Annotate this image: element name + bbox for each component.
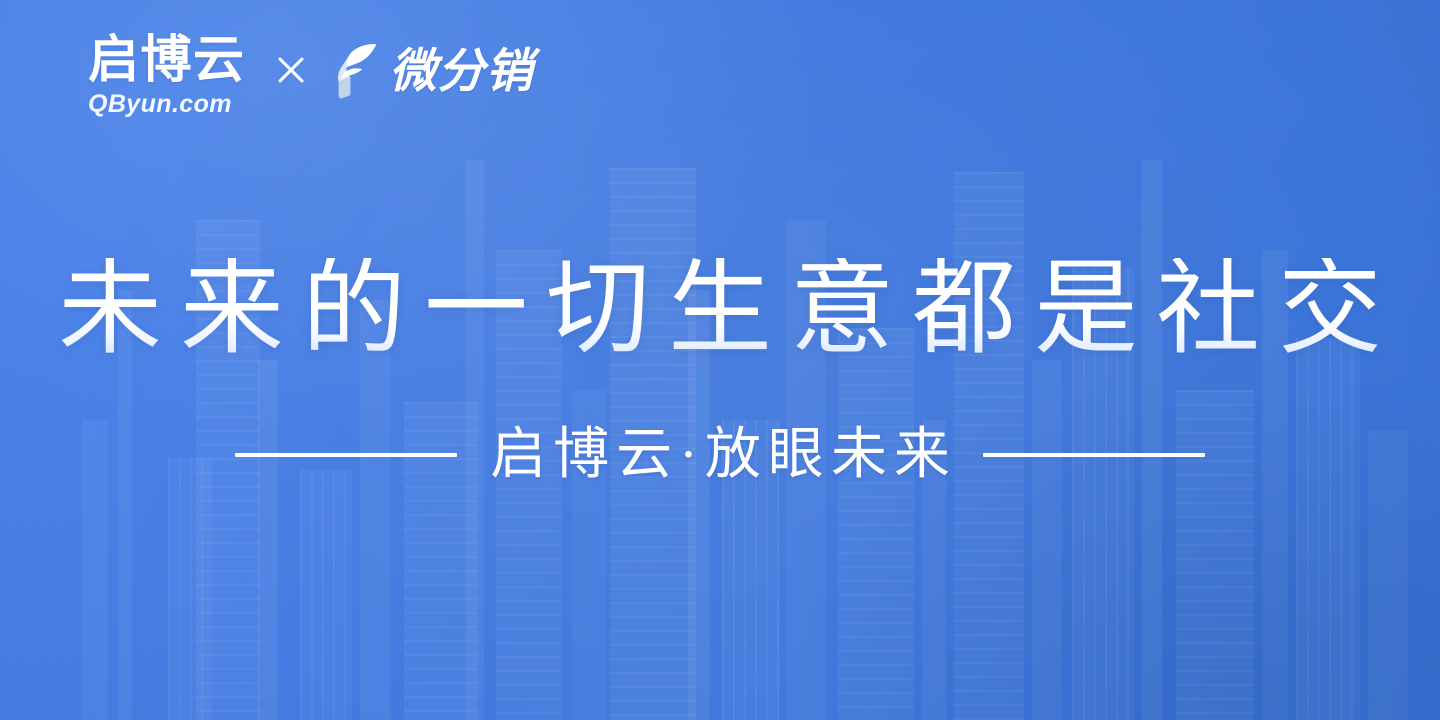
logo-lockup: 启博云 QByun.com 微分销: [88, 34, 534, 117]
hero-subtitle-row: 启博云·放眼未来: [0, 424, 1440, 487]
background-tower-windows: [838, 328, 914, 720]
promo-banner: 启博云 QByun.com 微分销 未来的一切生意都是社交 启博云·放眼未来: [0, 0, 1440, 720]
subtitle-rule-right: [983, 453, 1205, 457]
cross-multiply-icon: [276, 55, 306, 85]
subtitle-text: 启博云·放眼未来: [483, 424, 957, 487]
background-tower: [1296, 338, 1360, 720]
weifenxiao-leaf-icon: [332, 43, 378, 99]
background-tower: [1032, 360, 1062, 720]
background-tower: [838, 328, 914, 720]
weifenxiao-brand-name: 微分销: [390, 47, 534, 94]
headline-text: 未来的一切生意都是社交: [40, 258, 1400, 362]
hero-headline: 未来的一切生意都是社交: [0, 258, 1440, 362]
background-tower-windows: [1296, 338, 1360, 720]
background-tower: [300, 470, 352, 720]
background-tower-windows: [300, 470, 352, 720]
background-tower: [258, 360, 278, 720]
qbyun-brand-name: 启博云: [88, 34, 246, 86]
weifenxiao-logo[interactable]: 微分销: [332, 43, 534, 99]
qbyun-brand-url: QByun.com: [88, 92, 232, 117]
subtitle-rule-left: [235, 453, 457, 457]
qbyun-logo[interactable]: 启博云 QByun.com: [88, 34, 246, 117]
